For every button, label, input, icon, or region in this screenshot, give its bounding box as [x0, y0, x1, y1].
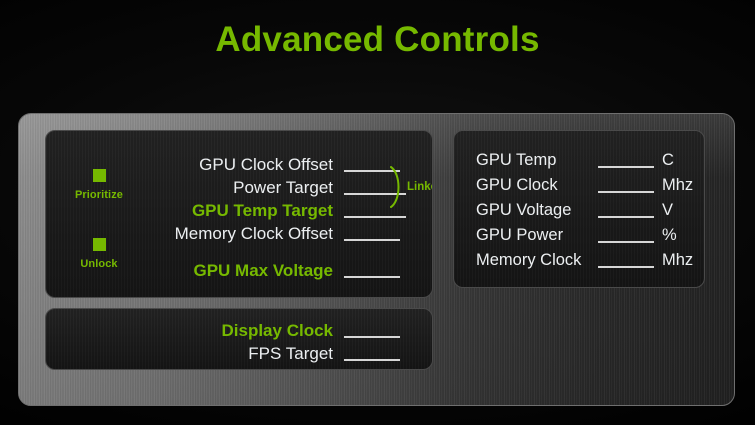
control-value-field[interactable] — [344, 239, 400, 241]
readout-label: GPU Clock — [476, 174, 598, 197]
readout-value-field — [598, 166, 654, 168]
control-row-gpu-max-voltage[interactable]: GPU Max Voltage — [101, 259, 400, 282]
readout-row-gpu-clock: GPU Clock Mhz — [476, 174, 693, 197]
readout-unit: V — [662, 199, 673, 222]
readout-panel: GPU Temp C GPU Clock Mhz GPU Voltage V G… — [453, 130, 705, 288]
readout-unit: Mhz — [662, 174, 693, 197]
control-label: Display Clock — [101, 319, 344, 342]
control-label: Memory Clock Offset — [101, 222, 344, 245]
readout-label: GPU Temp — [476, 149, 598, 172]
control-label: FPS Target — [101, 342, 344, 365]
readout-value-field — [598, 191, 654, 193]
control-value-field[interactable] — [344, 216, 406, 218]
control-row-gpu-clock-offset[interactable]: GPU Clock Offset — [101, 153, 400, 176]
linked-indicator: Linked — [390, 164, 433, 210]
control-value-field[interactable] — [344, 276, 400, 278]
readout-row-memory-clock: Memory Clock Mhz — [476, 249, 693, 272]
control-row-gpu-temp-target[interactable]: GPU Temp Target — [101, 199, 406, 222]
advanced-controls-frame: Prioritize Unlock GPU Clock Offset Power… — [18, 113, 735, 406]
control-row-power-target[interactable]: Power Target — [101, 176, 406, 199]
control-value-field[interactable] — [344, 359, 400, 361]
slide-background: Advanced Controls Prioritize Unlock GPU … — [0, 0, 755, 425]
page-title: Advanced Controls — [0, 18, 755, 62]
linked-label: Linked — [407, 181, 433, 193]
readout-unit: C — [662, 149, 674, 172]
control-label: GPU Clock Offset — [101, 153, 344, 176]
readout-value-field — [598, 216, 654, 218]
control-label: Power Target — [101, 176, 344, 199]
control-label: GPU Temp Target — [101, 199, 344, 222]
readout-label: GPU Power — [476, 224, 598, 247]
control-row-fps-target[interactable]: FPS Target — [101, 342, 400, 365]
readout-row-gpu-voltage: GPU Voltage V — [476, 199, 673, 222]
readout-unit: % — [662, 224, 677, 247]
readout-value-field — [598, 241, 654, 243]
readout-label: GPU Voltage — [476, 199, 598, 222]
readout-value-field — [598, 266, 654, 268]
control-value-field[interactable] — [344, 336, 400, 338]
readout-row-gpu-power: GPU Power % — [476, 224, 677, 247]
controls-panel: Prioritize Unlock GPU Clock Offset Power… — [45, 130, 433, 298]
control-row-display-clock[interactable]: Display Clock — [101, 319, 400, 342]
control-label: GPU Max Voltage — [101, 259, 344, 282]
control-row-memory-clock-offset[interactable]: Memory Clock Offset — [101, 222, 400, 245]
readout-row-gpu-temp: GPU Temp C — [476, 149, 674, 172]
readout-unit: Mhz — [662, 249, 693, 272]
display-panel: Display Clock FPS Target — [45, 308, 433, 370]
readout-label: Memory Clock — [476, 249, 598, 272]
link-bracket-icon — [390, 165, 403, 209]
